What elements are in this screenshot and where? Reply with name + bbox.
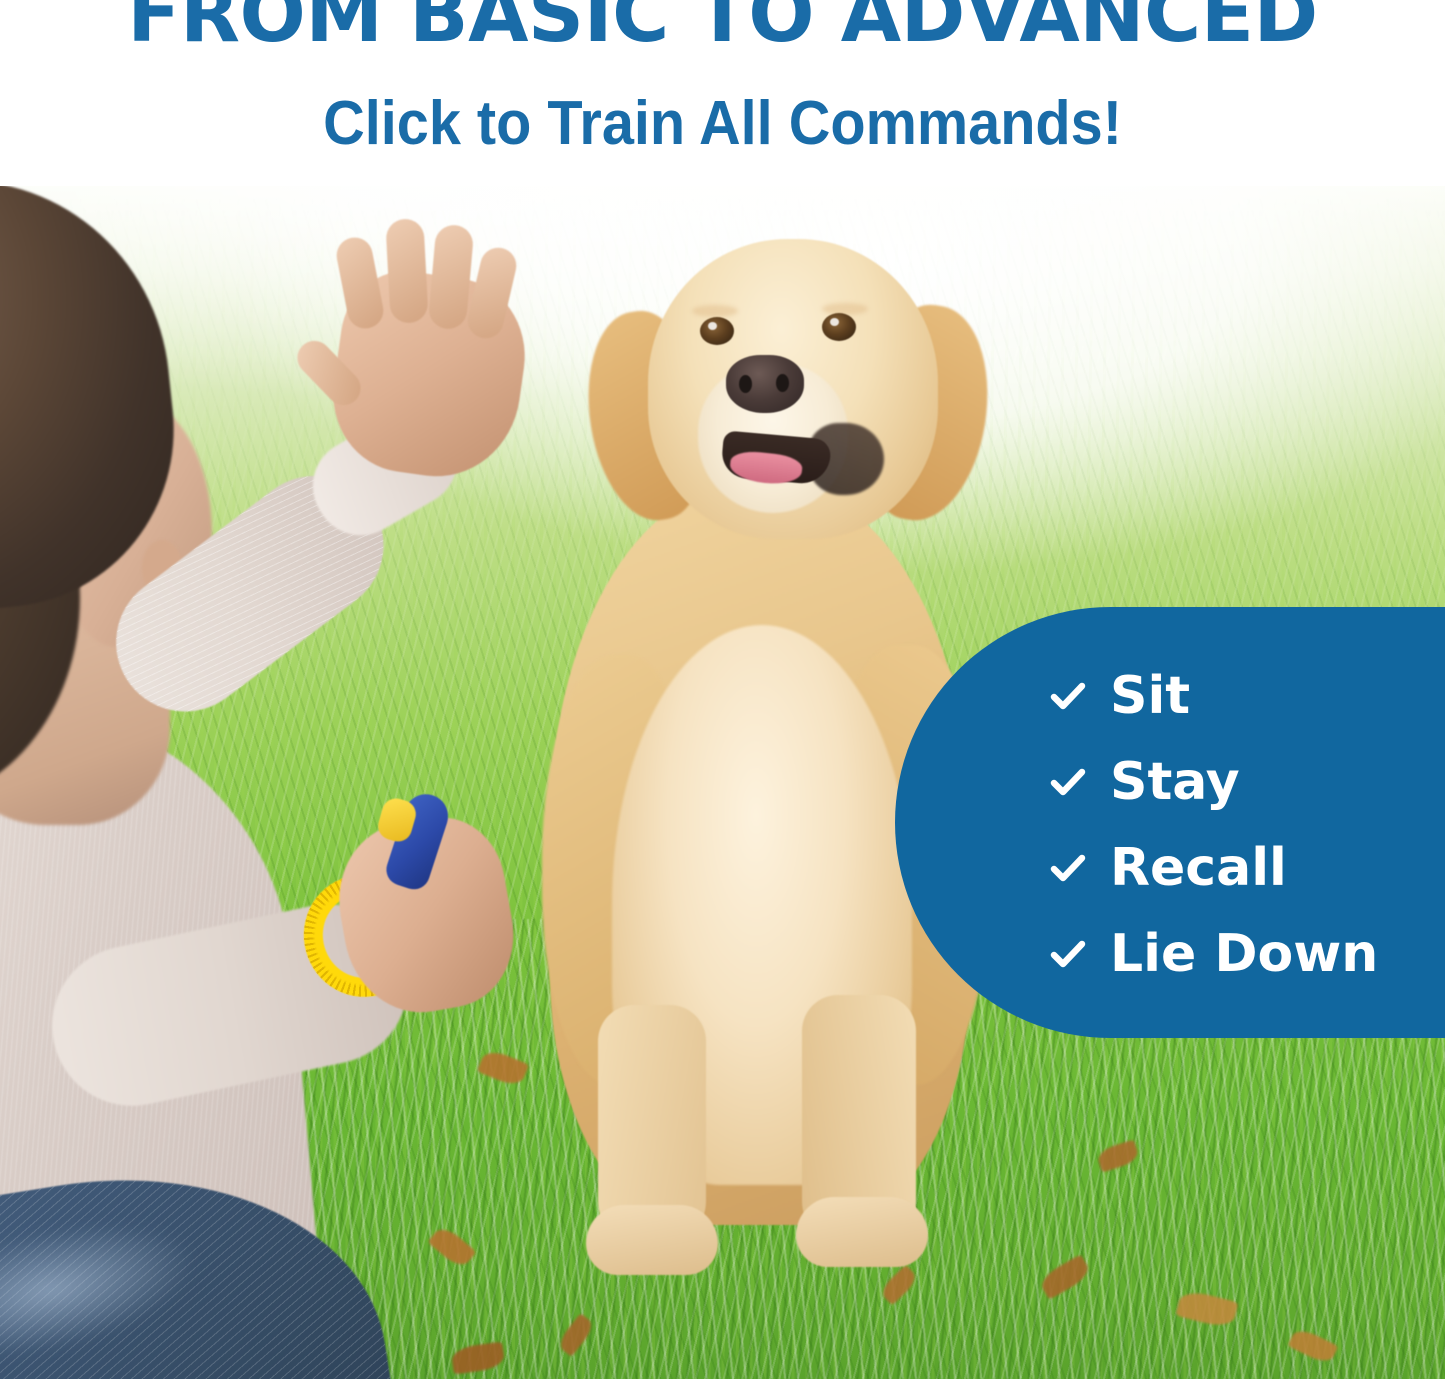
check-icon [1048, 676, 1088, 716]
command-label: Lie Down [1110, 928, 1378, 980]
dog-eye-highlight-left [708, 322, 717, 330]
commands-list: Sit Stay Recall Lie Down [1048, 607, 1445, 1038]
woman-finger [334, 234, 387, 331]
dog-brow-left [692, 305, 738, 317]
dog-paw-left [586, 1205, 718, 1275]
list-item: Sit [1048, 665, 1445, 727]
command-label: Recall [1110, 842, 1287, 894]
product-marketing-image: Sit Stay Recall Lie Down FROM BASIC TO A… [0, 0, 1445, 1379]
dog-eye-right [822, 313, 856, 341]
command-label: Sit [1110, 670, 1190, 722]
list-item: Recall [1048, 837, 1445, 899]
dog-paw-right [796, 1197, 928, 1267]
dog-nostril-left [739, 375, 752, 393]
header-band: FROM BASIC TO ADVANCED Click to Train Al… [0, 0, 1445, 186]
command-label: Stay [1110, 756, 1240, 808]
dog-nose [726, 355, 804, 413]
dog-nostril-right [776, 374, 789, 392]
list-item: Lie Down [1048, 923, 1445, 985]
woman-finger [385, 218, 428, 324]
check-icon [1048, 848, 1088, 888]
dog-eye-highlight-right [830, 318, 839, 326]
dog-eye-left [700, 317, 734, 345]
headline: FROM BASIC TO ADVANCED [0, 0, 1445, 54]
woman-trainer [0, 185, 520, 1379]
check-icon [1048, 762, 1088, 802]
check-icon [1048, 934, 1088, 974]
subheadline: Click to Train All Commands! [51, 93, 1395, 155]
list-item: Stay [1048, 751, 1445, 813]
